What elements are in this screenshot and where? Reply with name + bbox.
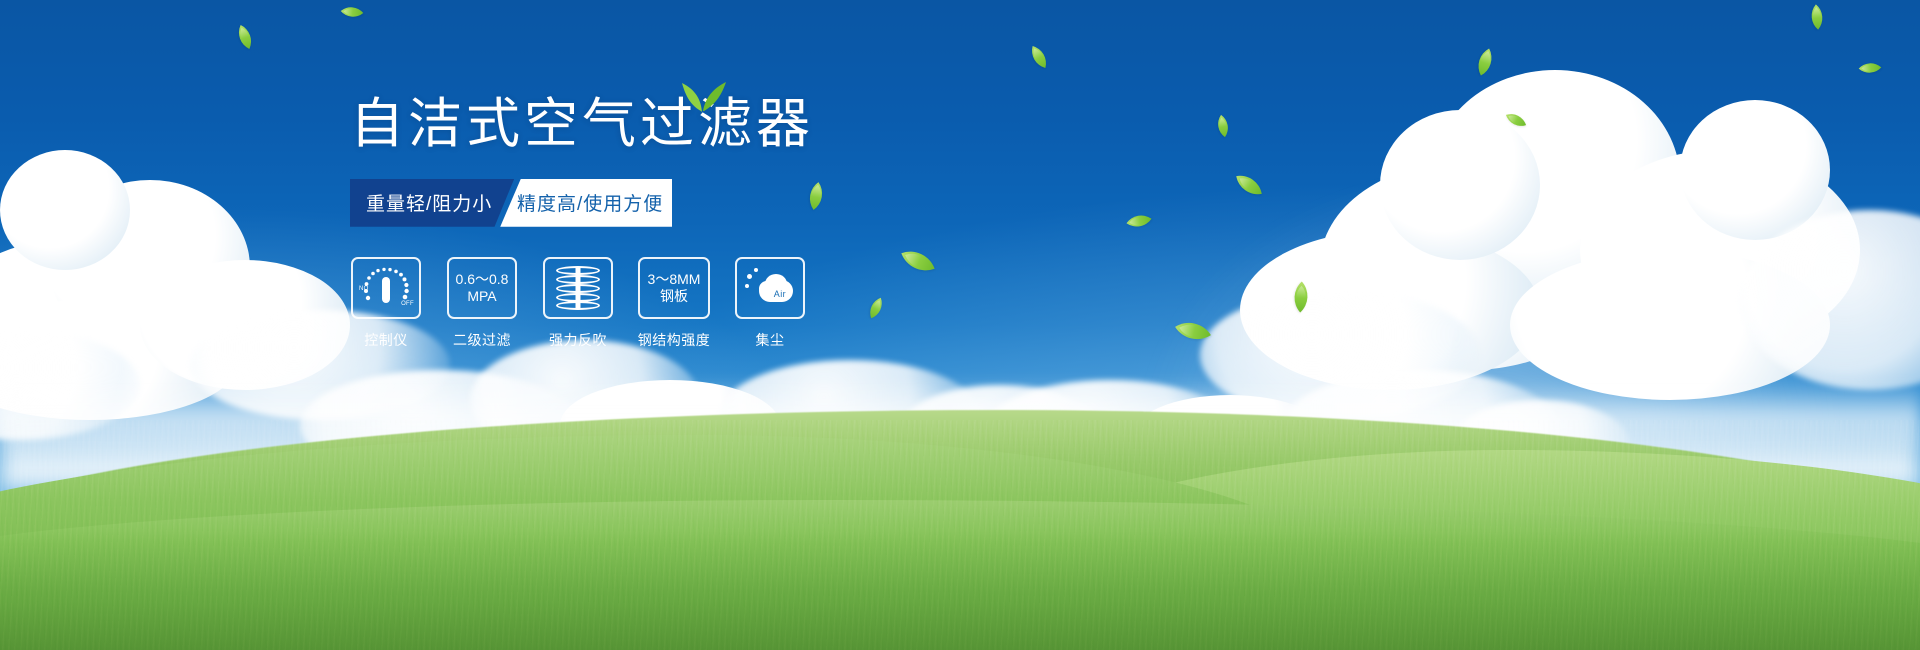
gauge-icon: NO OFF [360, 265, 412, 311]
sprout-leaf-icon [672, 78, 732, 112]
feature-value: 0.6～0.8 MPA [454, 271, 511, 304]
feature-icon-box: 3～8MM 钢板 [638, 257, 710, 319]
banner-content: 自洁式空气过滤器 重量轻/阻力小 精度高/使用方便 [350, 96, 1070, 350]
coil-ring [556, 301, 600, 310]
feature-list: NO OFF 控制仪 0.6～0.8 MPA 二级过滤 [350, 257, 1070, 350]
cloud-puff [759, 281, 775, 296]
feature-caption: 集尘 [756, 330, 785, 350]
feature-caption: 二级过滤 [453, 330, 511, 350]
feature-caption: 钢结构强度 [638, 330, 711, 350]
feature-icon-box: 0.6～0.8 MPA [447, 257, 517, 319]
gauge-label-off: OFF [401, 301, 414, 308]
coil-ring [556, 275, 600, 284]
dust-dot [747, 274, 752, 279]
tag-pill-weight[interactable]: 重量轻/阻力小 [350, 179, 514, 227]
feature-icon-box: NO OFF [351, 257, 421, 319]
feature-value-line2: MPA [456, 288, 509, 305]
air-label: Air [774, 289, 786, 300]
coil-ring [556, 284, 600, 293]
feature-value: 3～8MM 钢板 [646, 271, 703, 304]
feature-item-controller[interactable]: NO OFF 控制仪 [350, 257, 422, 350]
feature-item-blowback[interactable]: 强力反吹 [542, 257, 614, 350]
feature-icon-box: Air [735, 257, 805, 319]
feature-item-steel[interactable]: 3～8MM 钢板 钢结构强度 [638, 257, 710, 350]
gauge-label-no: NO [359, 286, 369, 293]
coil-ring [556, 266, 600, 275]
feature-icon-box [543, 257, 613, 319]
tag-pill-group: 重量轻/阻力小 精度高/使用方便 [350, 179, 672, 227]
title-wrap: 自洁式空气过滤器 [350, 96, 814, 153]
feature-item-pressure[interactable]: 0.6～0.8 MPA 二级过滤 [446, 257, 518, 350]
coil-blowback-icon [556, 265, 600, 311]
feature-item-dust[interactable]: Air 集尘 [734, 257, 806, 350]
hero-banner: 自洁式空气过滤器 重量轻/阻力小 精度高/使用方便 [0, 0, 1920, 650]
dust-dot [754, 268, 758, 272]
tag-pill-precision[interactable]: 精度高/使用方便 [500, 179, 672, 227]
dust-dot [745, 284, 749, 288]
feature-value-line2: 钢板 [648, 288, 701, 305]
feature-caption: 控制仪 [364, 330, 408, 350]
page-title: 自洁式空气过滤器 [350, 96, 814, 153]
feature-value-line1: 3～8MM [648, 271, 701, 288]
feature-value-line1: 0.6～0.8 [456, 271, 509, 288]
air-cloud-icon: Air [745, 268, 795, 308]
grass-shadow [0, 530, 1920, 650]
feature-caption: 强力反吹 [549, 330, 607, 350]
gauge-needle [382, 277, 390, 303]
